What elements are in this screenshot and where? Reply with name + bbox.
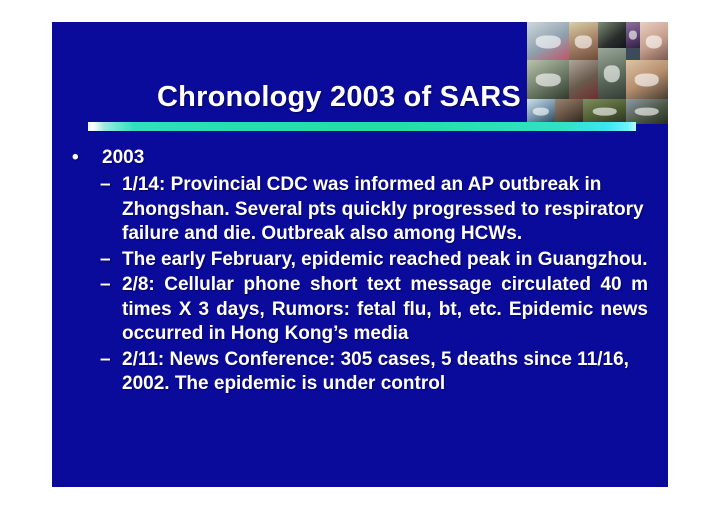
bullet-dash-icon: – xyxy=(100,248,111,273)
bullet-text: The early February, epidemic reached pea… xyxy=(122,248,648,273)
bullet-item-feb-8: – 2/8: Cellular phone short text message… xyxy=(52,273,668,347)
bullet-dash-icon: – xyxy=(100,348,111,373)
slide-canvas: Chronology 2003 of SARS • 2003 – 1/14: P… xyxy=(0,0,720,509)
bullet-item-early-february: – The early February, epidemic reached p… xyxy=(52,248,668,273)
bullet-text: 2/8: Cellular phone short text message c… xyxy=(122,273,648,347)
bullet-dash-icon: – xyxy=(100,173,111,198)
title-divider xyxy=(88,122,636,131)
bullet-text: 2/11: News Conference: 305 cases, 5 deat… xyxy=(122,348,648,397)
bullet-item-jan-14: – 1/14: Provincial CDC was informed an A… xyxy=(52,173,668,247)
bullet-dot-icon: • xyxy=(72,145,79,171)
bullet-item-feb-11: – 2/11: News Conference: 305 cases, 5 de… xyxy=(52,348,668,397)
bullet-text: 1/14: Provincial CDC was informed an AP … xyxy=(122,173,648,247)
presentation-slide: Chronology 2003 of SARS • 2003 – 1/14: P… xyxy=(52,22,668,487)
slide-body-content: • 2003 – 1/14: Provincial CDC was inform… xyxy=(52,145,668,398)
bullet-dash-icon: – xyxy=(100,273,111,298)
bullet-text: 2003 xyxy=(102,147,144,168)
bullet-item-year: • 2003 xyxy=(52,145,668,171)
page-title: Chronology 2003 of SARS xyxy=(104,81,574,114)
